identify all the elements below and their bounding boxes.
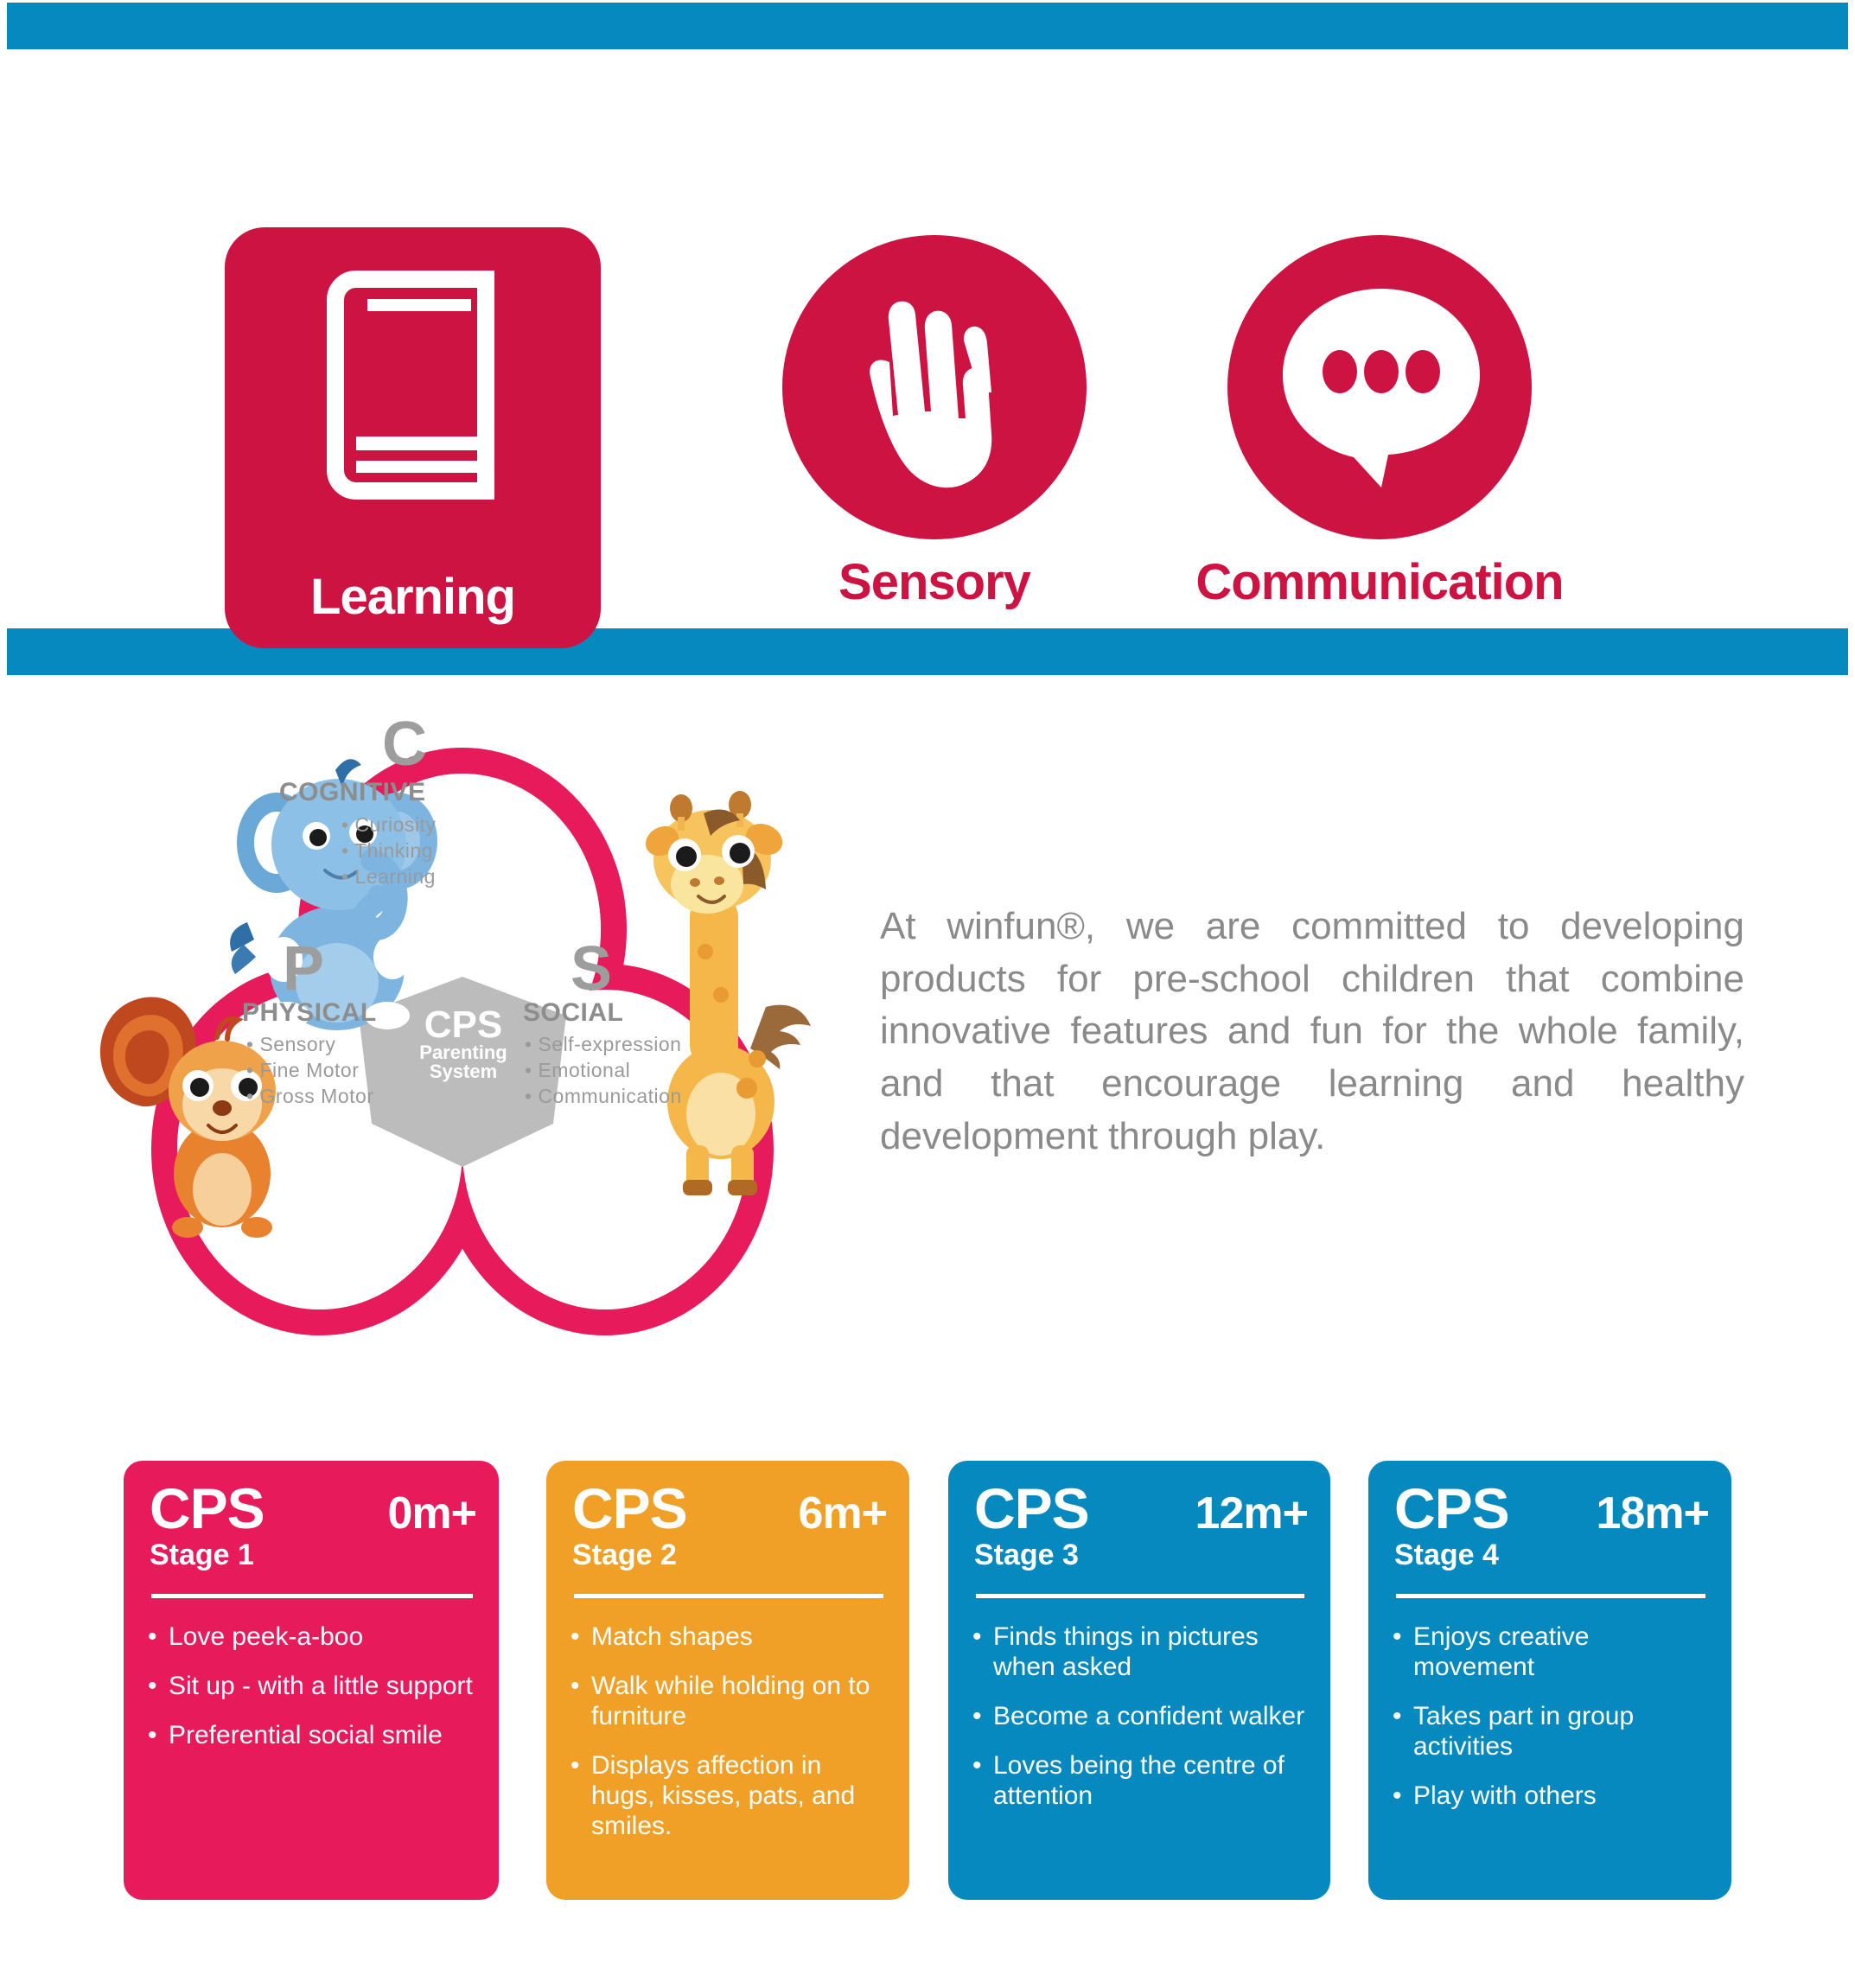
physical-heading: PHYSICAL — [242, 998, 377, 1028]
list-item: Match shapes — [571, 1622, 889, 1652]
card-divider — [151, 1594, 473, 1598]
card-header: CPS 18m+ Stage 4 — [1394, 1480, 1709, 1570]
sensory-label: Sensory — [838, 553, 1030, 611]
cognitive-letter: C — [382, 709, 428, 780]
card-divider — [574, 1594, 883, 1598]
sensory-circle — [782, 235, 1087, 539]
card-age-badge: 6m+ — [798, 1491, 887, 1536]
card-title: CPS — [974, 1480, 1089, 1537]
card-title: CPS — [1394, 1480, 1509, 1537]
card-bullet-list: Match shapes Walk while holding on to fu… — [571, 1622, 889, 1861]
hand-icon — [855, 280, 1019, 496]
list-item: Play with others — [1393, 1781, 1711, 1811]
social-letter: S — [571, 933, 613, 1004]
learning-label: Learning — [225, 568, 601, 626]
cognitive-heading: COGNITIVE — [279, 778, 426, 807]
list-item: Love peek-a-boo — [148, 1622, 478, 1652]
stage-card[interactable]: CPS 18m+ Stage 4 Enjoys creative movemen… — [1368, 1461, 1731, 1900]
card-bullet-list: Finds things in pictures when asked Beco… — [972, 1622, 1310, 1830]
card-header: CPS 0m+ Stage 1 — [150, 1480, 476, 1570]
physical-items: • Sensory • Fine Motor • Gross Motor — [246, 1032, 373, 1110]
category-icon-row: Learning Sensory Communication — [0, 104, 1855, 553]
card-divider — [976, 1594, 1304, 1598]
mission-paragraph: At winfun®, we are committed to developi… — [880, 901, 1744, 1163]
list-item: Loves being the centre of attention — [972, 1750, 1310, 1811]
list-item: Preferential social smile — [148, 1720, 478, 1750]
physical-letter: P — [283, 933, 325, 1004]
card-stage-label: Stage 4 — [1394, 1540, 1709, 1570]
card-title: CPS — [572, 1480, 687, 1537]
card-title: CPS — [150, 1480, 265, 1537]
stage-card[interactable]: CPS 0m+ Stage 1 Love peek-a-boo Sit up -… — [124, 1461, 499, 1900]
stage-card[interactable]: CPS 6m+ Stage 2 Match shapes Walk while … — [546, 1461, 909, 1900]
list-item: Sit up - with a little support — [148, 1671, 478, 1701]
list-item: Finds things in pictures when asked — [972, 1622, 1310, 1682]
card-bullet-list: Enjoys creative movement Takes part in g… — [1393, 1622, 1711, 1830]
communication-circle — [1227, 235, 1532, 539]
list-item: Enjoys creative movement — [1393, 1622, 1711, 1682]
speech-bubble-icon — [1279, 285, 1483, 489]
communication-category[interactable]: Communication — [1227, 235, 1532, 539]
card-stage-label: Stage 3 — [974, 1540, 1308, 1570]
list-item: Become a confident walker — [972, 1701, 1310, 1731]
cps-parenting-system-diagram: C COGNITIVE • Curiosity • Thinking • Lea… — [82, 717, 843, 1340]
learning-category-card[interactable]: Learning — [225, 227, 601, 648]
communication-label: Communication — [1195, 553, 1563, 611]
cps-stage-cards: CPS 0m+ Stage 1 Love peek-a-boo Sit up -… — [0, 1461, 1855, 1903]
card-age-badge: 0m+ — [387, 1491, 476, 1536]
stage-card[interactable]: CPS 12m+ Stage 3 Finds things in picture… — [948, 1461, 1330, 1900]
card-header: CPS 12m+ Stage 3 — [974, 1480, 1308, 1570]
card-divider — [1396, 1594, 1705, 1598]
book-icon — [327, 271, 500, 500]
list-item: Displays affection in hugs, kisses, pats… — [571, 1750, 889, 1841]
card-bullet-list: Love peek-a-boo Sit up - with a little s… — [148, 1622, 478, 1769]
list-item: Walk while holding on to furniture — [571, 1671, 889, 1731]
cognitive-items: • Curiosity • Thinking • Learning — [341, 812, 436, 890]
card-age-badge: 12m+ — [1195, 1491, 1308, 1536]
sensory-category[interactable]: Sensory — [782, 235, 1087, 539]
cps-center-label: CPS Parenting System — [364, 1007, 563, 1082]
card-stage-label: Stage 1 — [150, 1540, 476, 1570]
card-age-badge: 18m+ — [1597, 1491, 1709, 1536]
card-header: CPS 6m+ Stage 2 — [572, 1480, 887, 1570]
top-blue-bar — [7, 3, 1848, 49]
card-stage-label: Stage 2 — [572, 1540, 887, 1570]
list-item: Takes part in group activities — [1393, 1701, 1711, 1762]
